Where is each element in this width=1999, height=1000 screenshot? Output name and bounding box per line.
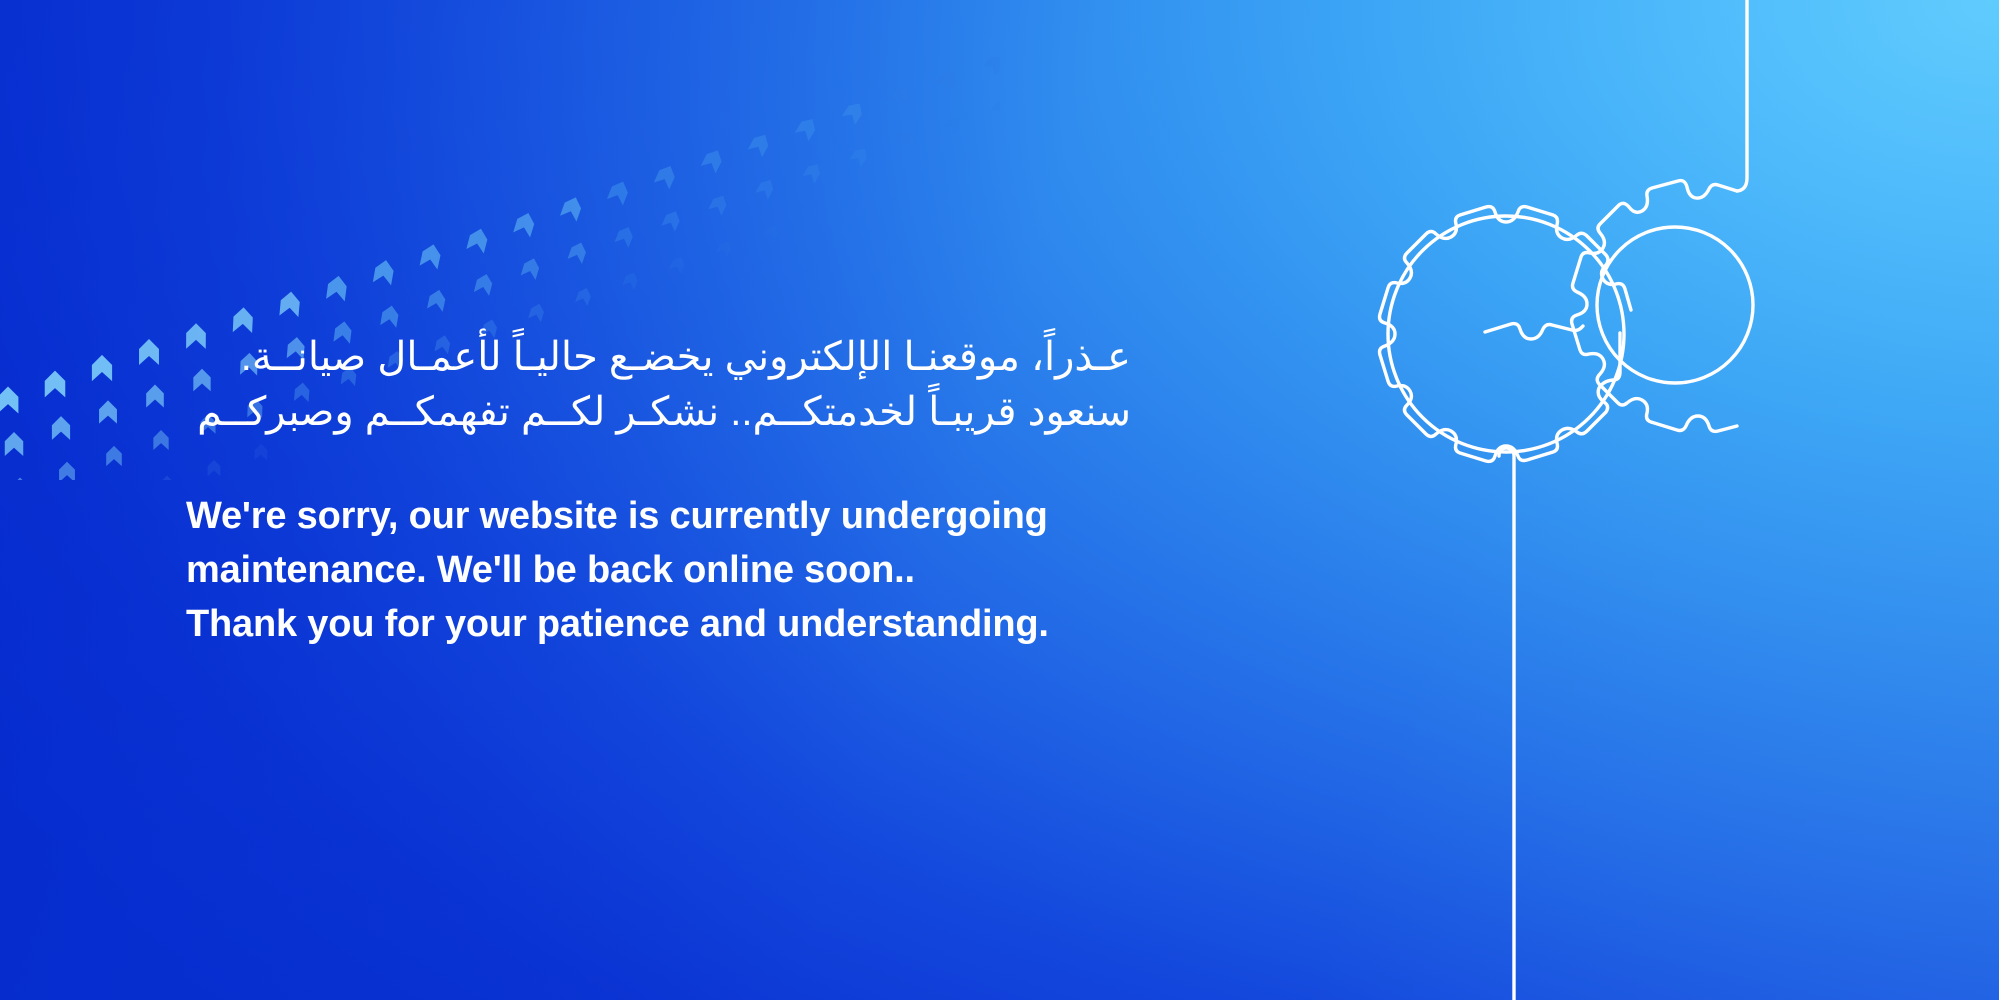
english-line-2: maintenance. We'll be back online soon.. — [186, 544, 1186, 598]
english-line-1: We're sorry, our website is currently un… — [186, 490, 1186, 544]
arabic-line-2: سنعود قريبـاً لخدمتكــم.. نشكـر لكــم تف… — [131, 385, 1131, 440]
arabic-line-1: عـذراً، موقعنـا الإلكتروني يخضـع حاليـاً… — [131, 330, 1131, 385]
arabic-message-block: عـذراً، موقعنـا الإلكتروني يخضـع حاليـاً… — [131, 330, 1131, 440]
english-line-3: Thank you for your patience and understa… — [186, 598, 1186, 652]
maintenance-page: عـذراً، موقعنـا الإلكتروني يخضـع حاليـاً… — [0, 0, 1999, 1000]
message-content: عـذراً، موقعنـا الإلكتروني يخضـع حاليـاً… — [186, 330, 1186, 652]
english-message-block: We're sorry, our website is currently un… — [186, 490, 1186, 652]
